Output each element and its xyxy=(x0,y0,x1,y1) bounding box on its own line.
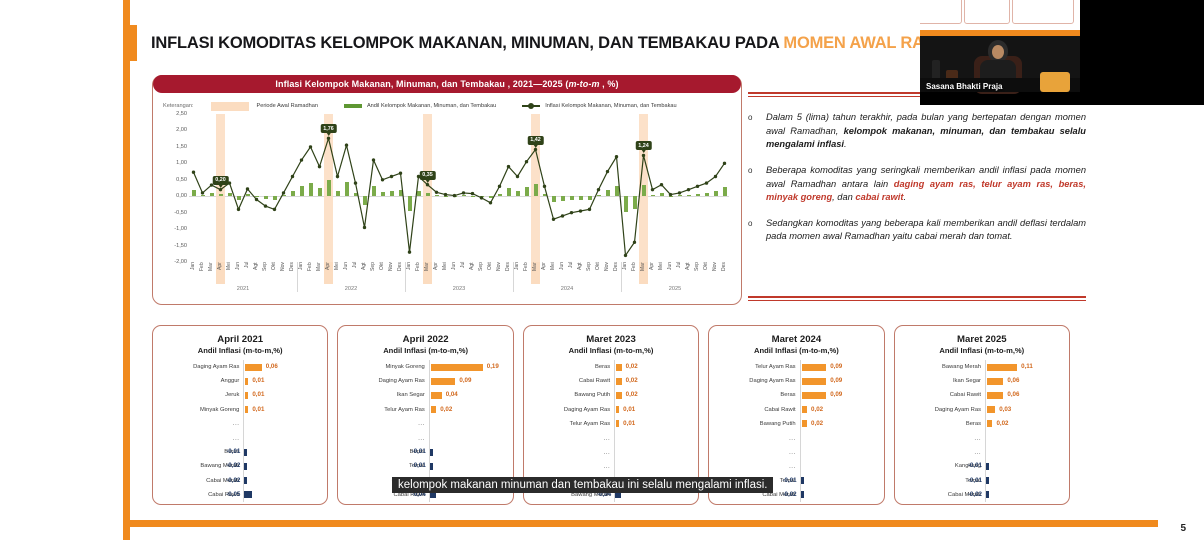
panel-row-ellipsis: … xyxy=(903,431,1061,445)
panel-title: Maret 2023 xyxy=(532,333,690,346)
positive-bar xyxy=(987,364,1017,371)
x-axis-month-label: Mei xyxy=(333,262,342,284)
insight-bullet-text: Dalam 5 (lima) tahun terakhir, pada bula… xyxy=(766,111,1086,152)
y-axis-tick: -2,00 xyxy=(174,259,187,265)
commodity-name: … xyxy=(532,463,614,470)
x-axis-month: Feb xyxy=(522,262,531,284)
x-axis-month-label: Feb xyxy=(198,262,207,284)
x-axis-month-label: Okt xyxy=(486,262,495,284)
row-bar-area xyxy=(800,459,876,473)
positive-bar xyxy=(802,392,827,399)
data-label: 1,42 xyxy=(527,136,544,145)
x-axis-month-label: Feb xyxy=(414,262,423,284)
value-label: 0,01 xyxy=(252,391,264,398)
value-label: 0,06 xyxy=(266,363,278,370)
positive-bar xyxy=(245,406,248,413)
x-axis-month: Nov xyxy=(711,262,720,284)
panel-row-ellipsis: … xyxy=(346,417,504,431)
row-bar-area: -0,05 xyxy=(243,488,319,502)
panel-row: Daging Ayam Ras0,01 xyxy=(532,403,690,417)
negative-bar xyxy=(801,491,804,498)
y-axis-tick: -0,50 xyxy=(174,210,187,216)
negative-bar xyxy=(244,491,252,498)
value-label: 0,02 xyxy=(626,377,638,384)
commodity-name: … xyxy=(161,435,243,442)
value-label: 0,02 xyxy=(440,406,452,413)
row-bar-area: 0,02 xyxy=(614,360,690,374)
negative-bar xyxy=(244,463,247,470)
x-axis-month: Sep xyxy=(693,262,702,284)
y-axis-tick: -1,50 xyxy=(174,243,187,249)
x-axis-month-label: Nov xyxy=(603,262,612,284)
x-axis-month: Jul xyxy=(243,262,252,284)
panel-row: Beras0,09 xyxy=(717,388,875,402)
panel-subtitle: Andil Inflasi (m-to-m,%) xyxy=(903,346,1061,355)
panel-row: Beras0,02 xyxy=(903,417,1061,431)
row-bar-area xyxy=(614,431,690,445)
text-segment: . xyxy=(903,192,906,202)
panel-row: Cabai Merah-0,02 xyxy=(161,474,319,488)
row-bar-area: -0,01 xyxy=(985,474,1061,488)
row-bar-area: -0,02 xyxy=(800,488,876,502)
x-axis-month: Des xyxy=(288,262,297,284)
x-axis-month-label: Agt xyxy=(576,262,585,284)
panel-row: Beras-0,01 xyxy=(161,445,319,459)
value-label: -0,02 xyxy=(226,477,240,484)
value-label: -0,01 xyxy=(968,462,982,469)
row-bar-area: 0,09 xyxy=(800,388,876,402)
flower-pot xyxy=(1040,72,1070,92)
data-label: 1,76 xyxy=(320,124,337,133)
row-bar-area: 0,09 xyxy=(800,374,876,388)
x-axis-month-label: Jun xyxy=(558,262,567,284)
commodity-name: Telur Ayam Ras xyxy=(717,364,799,370)
chart-plot-area: 2,502,001,501,000,500,00-0,50-1,00-1,50-… xyxy=(161,114,733,299)
value-label: 0,02 xyxy=(626,363,638,370)
commodity-name: Daging Ayam Ras xyxy=(903,407,985,413)
row-bar-area: 0,02 xyxy=(429,403,505,417)
x-axis-month-label: Sep xyxy=(477,262,486,284)
x-axis-month-label: Des xyxy=(396,262,405,284)
commodity-name: Cabai Rawit xyxy=(532,378,614,384)
negative-bar xyxy=(986,491,989,498)
x-axis-month: Des xyxy=(396,262,405,284)
value-label: -0,05 xyxy=(226,491,240,498)
panel-row-ellipsis: … xyxy=(717,431,875,445)
panel-rows: Daging Ayam Ras0,06Anggur0,01Jeruk0,01Mi… xyxy=(161,360,319,502)
commodity-name: Cabai Rawit xyxy=(903,392,985,398)
y-axis: 2,502,001,501,000,500,00-0,50-1,00-1,50-… xyxy=(161,114,187,262)
x-axis-month-label: Jul xyxy=(351,262,360,284)
x-axis-month-label: Des xyxy=(288,262,297,284)
positive-bar xyxy=(616,406,619,413)
panel-row-ellipsis: … xyxy=(532,445,690,459)
x-axis-month-label: Des xyxy=(504,262,513,284)
value-label: -0,01 xyxy=(782,477,796,484)
row-bar-area: -0,02 xyxy=(243,459,319,473)
commodity-panel: Maret 2025Andil Inflasi (m-to-m,%)Bawang… xyxy=(894,325,1070,505)
x-axis-month-label: Jan xyxy=(189,262,198,284)
commodity-name: Minyak Goreng xyxy=(346,364,428,370)
commodity-name: Daging Ayam Ras xyxy=(717,378,799,384)
text-segment: Sedangkan komoditas yang beberapa kali m… xyxy=(766,218,1086,242)
x-axis-month-label: Feb xyxy=(522,262,531,284)
y-axis-tick: 1,50 xyxy=(176,144,187,150)
line-marker-swatch-icon xyxy=(522,105,540,107)
commodity-name: Daging Ayam Ras xyxy=(161,364,243,370)
y-axis-tick: 2,00 xyxy=(176,127,187,133)
x-axis-month: Jan xyxy=(405,262,414,284)
x-axis-month-label: Mei xyxy=(225,262,234,284)
positive-bar xyxy=(431,406,436,413)
panel-row: Jeruk0,01 xyxy=(161,388,319,402)
negative-bar xyxy=(986,463,989,470)
commodity-name: Daging Ayam Ras xyxy=(346,378,428,384)
x-axis-month: Nov xyxy=(387,262,396,284)
x-axis-month: Mar xyxy=(423,262,432,284)
y-axis-tick: 0,00 xyxy=(176,193,187,199)
commodity-name: … xyxy=(532,449,614,456)
x-axis-month-label: Jul xyxy=(459,262,468,284)
row-bar-area: 0,01 xyxy=(243,374,319,388)
commodity-name: Ikan Segar xyxy=(903,378,985,384)
x-axis-month-label: Feb xyxy=(306,262,315,284)
x-axis-month: Okt xyxy=(486,262,495,284)
x-axis-month: Sep xyxy=(585,262,594,284)
x-axis: JanFebMarAprMeiJunJulAgtSepOktNovDes2021… xyxy=(189,262,729,298)
ramadan-band-swatch-icon xyxy=(211,102,249,111)
commodity-name: … xyxy=(346,420,428,427)
chart-title: Inflasi Kelompok Makanan, Minuman, dan T… xyxy=(275,79,618,89)
row-bar-area xyxy=(429,431,505,445)
panel-row: Daging Ayam Ras0,09 xyxy=(346,374,504,388)
x-axis-month-label: Mei xyxy=(441,262,450,284)
x-axis-month: Okt xyxy=(270,262,279,284)
commodity-name: … xyxy=(903,449,985,456)
x-axis-month: Apr xyxy=(432,262,441,284)
x-axis-month: Jan xyxy=(297,262,306,284)
panel-title: Maret 2024 xyxy=(717,333,875,346)
commodity-name: Bawang Merah xyxy=(903,364,985,370)
panel-row: Kangkung-0,01 xyxy=(903,459,1061,473)
positive-bar xyxy=(802,420,807,427)
text-segment: , dan xyxy=(832,192,855,202)
x-axis-year-label: 2022 xyxy=(297,286,405,292)
x-axis-month: Mar xyxy=(207,262,216,284)
y-axis-tick: 1,00 xyxy=(176,160,187,166)
legend-inflasi-label: Inflasi Kelompok Makanan, Minuman, dan T… xyxy=(545,103,676,109)
bg-box-mid xyxy=(964,0,1010,24)
header-accent xyxy=(130,25,137,61)
webcam-overlay[interactable]: Sasana Bhakti Praja xyxy=(920,0,1204,105)
x-axis-month: Jan xyxy=(189,262,198,284)
row-bar-area xyxy=(985,431,1061,445)
x-axis-month: Feb xyxy=(198,262,207,284)
x-axis-month: Sep xyxy=(477,262,486,284)
x-axis-month-label: Apr xyxy=(324,262,333,284)
panel-subtitle: Andil Inflasi (m-to-m,%) xyxy=(346,346,504,355)
x-axis-month-label: Jun xyxy=(450,262,459,284)
x-axis-year-label: 2021 xyxy=(189,286,297,292)
panel-row-ellipsis: … xyxy=(903,445,1061,459)
x-axis-month: Mei xyxy=(549,262,558,284)
panel-row-ellipsis: … xyxy=(346,431,504,445)
x-axis-month: Apr xyxy=(324,262,333,284)
webcam-orange-wall xyxy=(920,30,1080,36)
panel-row: Daging Ayam Ras0,09 xyxy=(717,374,875,388)
row-bar-area: 0,03 xyxy=(985,403,1061,417)
x-axis-month: Jul xyxy=(459,262,468,284)
x-axis-month-label: Nov xyxy=(279,262,288,284)
x-axis-month-label: Apr xyxy=(432,262,441,284)
commodity-name: Telur Ayam Ras xyxy=(532,421,614,427)
x-axis-month: Jul xyxy=(351,262,360,284)
panel-row: Telur Ayam Ras0,09 xyxy=(717,360,875,374)
commodity-name: Daging Ayam Ras xyxy=(532,407,614,413)
y-axis-tick: -1,00 xyxy=(174,226,187,232)
positive-bar xyxy=(245,364,261,371)
panel-title: April 2022 xyxy=(346,333,504,346)
x-axis-month-label: Agt xyxy=(360,262,369,284)
value-label: 0,02 xyxy=(811,420,823,427)
panel-row: Bawang Merah-0,02 xyxy=(161,459,319,473)
year-separator xyxy=(621,262,622,292)
panel-title: April 2021 xyxy=(161,333,319,346)
value-label: 0,01 xyxy=(623,406,635,413)
insight-bullet: oBeberapa komoditas yang seringkali memb… xyxy=(748,164,1086,205)
speaker-name-label: Sasana Bhakti Praja xyxy=(926,82,1002,91)
value-label: -0,01 xyxy=(968,477,982,484)
x-axis-month: Mei xyxy=(225,262,234,284)
x-axis-month: Jun xyxy=(342,262,351,284)
x-axis-year-label: 2023 xyxy=(405,286,513,292)
panel-row: Cabai Rawit0,02 xyxy=(532,374,690,388)
x-axis-month: Feb xyxy=(306,262,315,284)
row-bar-area: 0,01 xyxy=(243,403,319,417)
x-axis-month: Nov xyxy=(495,262,504,284)
positive-bar xyxy=(987,406,995,413)
row-bar-area xyxy=(614,445,690,459)
positive-bar xyxy=(616,420,619,427)
x-axis-month: Jan xyxy=(621,262,630,284)
panel-row: Telur Ayam Ras0,02 xyxy=(346,403,504,417)
data-label: 0,20 xyxy=(212,176,229,185)
x-axis-month-label: Jul xyxy=(243,262,252,284)
panel-row: Daging Ayam Ras0,06 xyxy=(161,360,319,374)
x-axis-month-label: Apr xyxy=(540,262,549,284)
row-bar-area: 0,02 xyxy=(614,374,690,388)
x-axis-month-label: Jun xyxy=(234,262,243,284)
value-label: -0,01 xyxy=(412,462,426,469)
row-bar-area: 0,06 xyxy=(985,374,1061,388)
x-axis-month: Okt xyxy=(702,262,711,284)
year-separator xyxy=(513,262,514,292)
row-bar-area xyxy=(985,445,1061,459)
value-label: 0,02 xyxy=(626,391,638,398)
plot-canvas: 0,201,760,351,421,24 xyxy=(189,114,729,262)
slide-root: INFLASI KOMODITAS KELOMPOK MAKANAN, MINU… xyxy=(0,0,1204,540)
value-label: 0,06 xyxy=(1007,391,1019,398)
x-axis-month-label: Nov xyxy=(495,262,504,284)
value-label: 0,09 xyxy=(830,391,842,398)
negative-bar xyxy=(986,477,989,484)
insights-bottom-rule-2 xyxy=(748,300,1086,301)
value-label: 0,09 xyxy=(830,363,842,370)
commodity-name: Beras xyxy=(717,392,799,398)
x-axis-month: Des xyxy=(612,262,621,284)
positive-bar xyxy=(802,364,827,371)
row-bar-area: 0,19 xyxy=(429,360,505,374)
panel-row-ellipsis: … xyxy=(532,431,690,445)
footer-bar xyxy=(130,520,1158,527)
commodity-name: Ikan Segar xyxy=(346,392,428,398)
panel-row: Ikan Segar0,06 xyxy=(903,374,1061,388)
insights-panel: oDalam 5 (lima) tahun terakhir, pada bul… xyxy=(748,92,1086,256)
x-axis-month: Okt xyxy=(378,262,387,284)
commodity-name: Anggur xyxy=(161,378,243,384)
panel-title: Maret 2025 xyxy=(903,333,1061,346)
commodity-name: … xyxy=(717,463,799,470)
positive-bar xyxy=(245,392,248,399)
row-bar-area: 0,01 xyxy=(614,417,690,431)
row-bar-area xyxy=(243,431,319,445)
webcam-background-slide xyxy=(920,0,1080,32)
green-bar-swatch-icon xyxy=(344,104,362,108)
commodity-name: … xyxy=(717,435,799,442)
row-bar-area: -0,02 xyxy=(243,474,319,488)
positive-bar xyxy=(616,392,621,399)
x-axis-month-label: Jun xyxy=(666,262,675,284)
positive-bar xyxy=(802,406,807,413)
x-axis-month-label: Sep xyxy=(369,262,378,284)
negative-bar xyxy=(801,477,804,484)
negative-bar xyxy=(430,463,433,470)
positive-bar xyxy=(245,378,248,385)
x-axis-month-label: Jan xyxy=(513,262,522,284)
commodity-name: … xyxy=(532,435,614,442)
page-title: INFLASI KOMODITAS KELOMPOK MAKANAN, MINU… xyxy=(151,34,996,53)
x-axis-month-label: Feb xyxy=(630,262,639,284)
negative-bar xyxy=(244,449,247,456)
panel-subtitle: Andil Inflasi (m-to-m,%) xyxy=(717,346,875,355)
x-axis-month: Nov xyxy=(603,262,612,284)
x-axis-month-label: Sep xyxy=(693,262,702,284)
positive-bar xyxy=(987,378,1003,385)
panel-row: Cabai Rawit-0,05 xyxy=(161,488,319,502)
legend-ramadan-label: Periode Awal Ramadhan xyxy=(256,103,317,109)
insights-bullet-list: oDalam 5 (lima) tahun terakhir, pada bul… xyxy=(748,111,1086,244)
x-axis-month-label: Mar xyxy=(423,262,432,284)
commodity-panel: April 2021Andil Inflasi (m-to-m,%)Daging… xyxy=(152,325,328,505)
panel-row: Cabai Rawit0,06 xyxy=(903,388,1061,402)
value-label: -0,02 xyxy=(782,491,796,498)
panel-row: Bawang Putih0,02 xyxy=(532,388,690,402)
commodity-name: Bawang Putih xyxy=(717,421,799,427)
x-axis-month: Des xyxy=(504,262,513,284)
positive-bar xyxy=(431,378,456,385)
bullet-marker-icon: o xyxy=(748,164,766,205)
row-bar-area: -0,02 xyxy=(985,488,1061,502)
panel-row-ellipsis: … xyxy=(161,417,319,431)
text-segment: cabai rawit xyxy=(855,192,903,202)
positive-bar xyxy=(616,364,621,371)
bg-box-left xyxy=(920,0,962,24)
x-axis-month-label: Mar xyxy=(639,262,648,284)
x-axis-month-label: Okt xyxy=(270,262,279,284)
row-bar-area: 0,02 xyxy=(800,417,876,431)
x-axis-month: Apr xyxy=(540,262,549,284)
panel-row: Tomat-0,01 xyxy=(346,459,504,473)
bullet-marker-icon: o xyxy=(748,111,766,152)
row-bar-area: 0,06 xyxy=(985,388,1061,402)
panel-row-ellipsis: … xyxy=(532,459,690,473)
row-bar-area: -0,01 xyxy=(985,459,1061,473)
panel-subtitle: Andil Inflasi (m-to-m,%) xyxy=(161,346,319,355)
insights-bottom-rule xyxy=(748,296,1086,298)
row-bar-area: 0,04 xyxy=(429,388,505,402)
value-label: 0,01 xyxy=(623,420,635,427)
value-label: 0,01 xyxy=(252,406,264,413)
x-axis-month: Mei xyxy=(441,262,450,284)
x-axis-month: Agt xyxy=(684,262,693,284)
row-bar-area xyxy=(800,445,876,459)
value-label: 0,02 xyxy=(996,420,1008,427)
x-axis-month-label: Agt xyxy=(468,262,477,284)
value-label: 0,06 xyxy=(1007,377,1019,384)
x-axis-month-label: Jun xyxy=(342,262,351,284)
row-bar-area: -0,01 xyxy=(800,474,876,488)
chart-card: Inflasi Kelompok Makanan, Minuman, dan T… xyxy=(152,75,742,305)
x-axis-month: Agt xyxy=(360,262,369,284)
panel-rows: Bawang Merah0,11Ikan Segar0,06Cabai Rawi… xyxy=(903,360,1061,502)
x-axis-year-label: 2025 xyxy=(621,286,729,292)
x-axis-month-label: Mei xyxy=(549,262,558,284)
panel-row: Ikan Segar0,04 xyxy=(346,388,504,402)
value-label: 0,11 xyxy=(1021,363,1033,370)
panel-row-ellipsis: … xyxy=(717,445,875,459)
negative-bar xyxy=(244,477,247,484)
slide-header: INFLASI KOMODITAS KELOMPOK MAKANAN, MINU… xyxy=(130,20,930,66)
value-label: 0,04 xyxy=(446,391,458,398)
value-label: -0,01 xyxy=(412,448,426,455)
x-axis-month-label: Agt xyxy=(252,262,261,284)
panel-row: Tomat-0,01 xyxy=(903,474,1061,488)
webcam-video: Sasana Bhakti Praja xyxy=(920,0,1080,105)
x-axis-month: Jan xyxy=(513,262,522,284)
legend-item-ramadan: Periode Awal Ramadhan xyxy=(211,102,317,111)
row-bar-area: 0,02 xyxy=(614,388,690,402)
legend-item-inflasi: Inflasi Kelompok Makanan, Minuman, dan T… xyxy=(522,103,676,109)
insights-bottom-rules xyxy=(748,296,1086,301)
positive-bar xyxy=(987,420,992,427)
value-label: 0,02 xyxy=(811,406,823,413)
insight-bullet-text: Sedangkan komoditas yang beberapa kali m… xyxy=(766,217,1086,244)
page-title-main: INFLASI KOMODITAS KELOMPOK MAKANAN, MINU… xyxy=(151,34,779,52)
row-bar-area xyxy=(429,417,505,431)
x-axis-month-label: Des xyxy=(612,262,621,284)
panel-row-ellipsis: … xyxy=(717,459,875,473)
row-bar-area: 0,02 xyxy=(800,403,876,417)
y-axis-tick: 2,50 xyxy=(176,111,187,117)
x-axis-month: Feb xyxy=(414,262,423,284)
positive-bar xyxy=(431,392,442,399)
commodity-name: Bawang Putih xyxy=(532,392,614,398)
x-axis-month: Okt xyxy=(594,262,603,284)
legend-label: Keterangan: xyxy=(163,103,193,109)
x-axis-month-label: Okt xyxy=(702,262,711,284)
x-axis-month: Des xyxy=(720,262,729,284)
x-axis-month-label: Jan xyxy=(297,262,306,284)
